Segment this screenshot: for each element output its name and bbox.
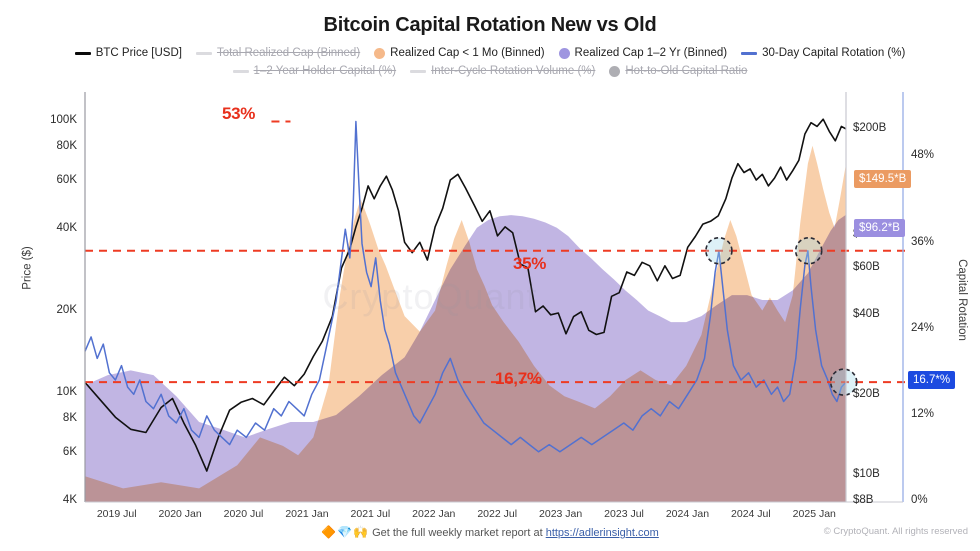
left-axis-tick: 8K (0, 412, 77, 424)
left-axis-tick: 40K (0, 222, 77, 234)
callout-35: 35% (513, 254, 546, 274)
legend-dot-icon (609, 66, 620, 77)
legend-item-2[interactable]: Realized Cap < 1 Mo (Binned) (374, 45, 544, 61)
left-axis-tick: 4K (0, 494, 77, 506)
capital-rotation-badge: 16.7*% (908, 371, 955, 389)
left-axis-tick: 10K (0, 386, 77, 398)
left-axis-title: Price ($) (22, 246, 34, 289)
middle-axis-tick: $8B (853, 494, 873, 506)
left-axis-tick: 60K (0, 174, 77, 186)
legend-line-icon (75, 52, 91, 55)
middle-axis-tick: $60B (853, 261, 880, 273)
legend-item-label: 30-Day Capital Rotation (%) (762, 45, 905, 61)
right-axis-tick: 12% (911, 408, 934, 420)
realized-cap-old-badge: $96.2*B (854, 219, 905, 237)
legend-item-1[interactable]: Total Realized Cap (Binned) (196, 45, 360, 61)
chart-title: Bitcoin Capital Rotation New vs Old (0, 14, 980, 37)
legend-item-label: BTC Price [USD] (96, 45, 182, 61)
left-axis-tick: 6K (0, 446, 77, 458)
left-axis-tick: 80K (0, 140, 77, 152)
legend-line-icon (410, 70, 426, 73)
legend-item-7[interactable]: Hot-to-Old Capital Ratio (609, 63, 747, 79)
copyright-notice: © CryptoQuant. All rights reserved (824, 526, 968, 537)
left-axis-tick: 20K (0, 304, 77, 316)
highlight-marker-1 (796, 238, 822, 264)
legend-item-4[interactable]: 30-Day Capital Rotation (%) (741, 45, 905, 61)
legend-dot-icon (559, 48, 570, 59)
middle-axis-tick: $10B (853, 468, 880, 480)
legend-line-icon (196, 52, 212, 55)
footer-link[interactable]: https://adlerinsight.com (546, 527, 659, 539)
legend-item-label: Total Realized Cap (Binned) (217, 45, 360, 61)
legend-item-label: Inter-Cycle Rotation Volume (%) (431, 63, 595, 79)
right-axis-tick: 24% (911, 322, 934, 334)
right-axis-tick: 0% (911, 494, 928, 506)
legend-item-label: 1–2 Year Holder Capital (%) (254, 63, 397, 79)
legend-item-0[interactable]: BTC Price [USD] (75, 45, 182, 61)
right-axis-tick: 48% (911, 149, 934, 161)
middle-axis-tick: $20B (853, 388, 880, 400)
legend-line-icon (233, 70, 249, 73)
x-axis-tick: 2025 Jan (774, 508, 854, 520)
legend-item-5[interactable]: 1–2 Year Holder Capital (%) (233, 63, 397, 79)
right-axis-title: Capital Rotation (956, 259, 968, 341)
legend-item-label: Hot-to-Old Capital Ratio (625, 63, 747, 79)
legend-item-label: Realized Cap 1–2 Yr (Binned) (575, 45, 728, 61)
legend-item-3[interactable]: Realized Cap 1–2 Yr (Binned) (559, 45, 728, 61)
callout-53: 53% (222, 104, 255, 124)
highlight-marker-0 (706, 238, 732, 264)
plot-svg (0, 0, 980, 551)
left-axis-tick: 100K (0, 114, 77, 126)
right-axis-tick: 36% (911, 236, 934, 248)
legend-dot-icon (374, 48, 385, 59)
footer-text: Get the full weekly market report at (372, 527, 546, 539)
callout-16-7: 16,7% (495, 369, 542, 389)
legend-item-label: Realized Cap < 1 Mo (Binned) (390, 45, 544, 61)
legend-item-6[interactable]: Inter-Cycle Rotation Volume (%) (410, 63, 595, 79)
footer-emoji: 🔶💎🙌 (321, 525, 369, 539)
middle-axis-tick: $200B (853, 122, 886, 134)
middle-axis-tick: $40B (853, 308, 880, 320)
legend-line-icon (741, 52, 757, 55)
realized-cap-hot-badge: $149.5*B (854, 170, 911, 188)
chart-container: Bitcoin Capital Rotation New vs Old BTC … (0, 0, 980, 551)
chart-legend: BTC Price [USD]Total Realized Cap (Binne… (0, 45, 980, 79)
